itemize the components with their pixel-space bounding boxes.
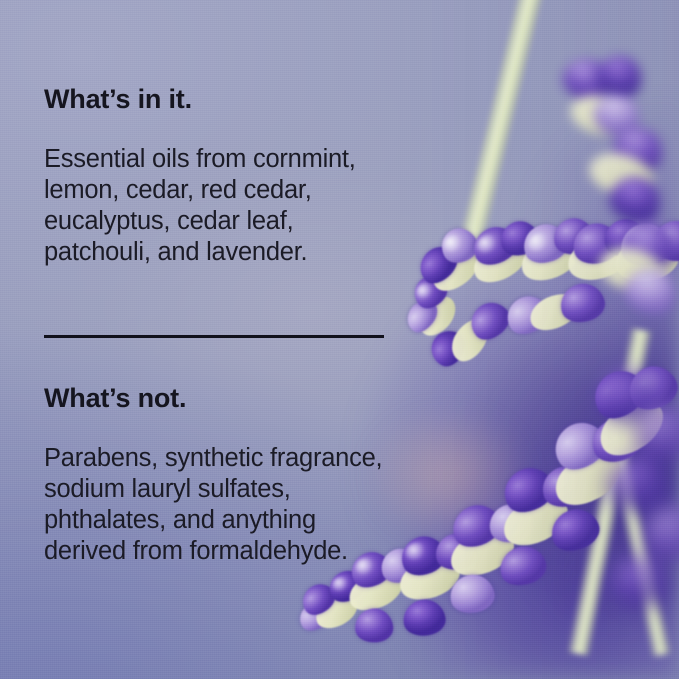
ingredients-included-line-1: Essential oils from cornmint, <box>44 144 474 175</box>
ingredients-excluded-line-3: phthalates, and anything <box>44 505 474 536</box>
ingredient-info-card: What’s in it. Essential oils from cornmi… <box>0 0 679 679</box>
ingredients-excluded-line-1: Parabens, synthetic fragrance, <box>44 443 474 474</box>
ingredients-excluded-list: Parabens, synthetic fragrance, sodium la… <box>44 443 474 567</box>
ingredients-included-line-4: patchouli, and lavender. <box>44 237 474 268</box>
heading-whats-not: What’s not. <box>44 383 186 413</box>
ingredients-excluded-line-2: sodium lauryl sulfates, <box>44 474 474 505</box>
ingredients-included-line-3: eucalyptus, cedar leaf, <box>44 206 474 237</box>
ingredients-included-line-2: lemon, cedar, red cedar, <box>44 175 474 206</box>
ingredients-excluded-line-4: derived from formaldehyde. <box>44 536 474 567</box>
card-text-content: What’s in it. Essential oils from cornmi… <box>44 0 514 679</box>
heading-whats-in-it: What’s in it. <box>44 84 192 114</box>
ingredients-included-list: Essential oils from cornmint, lemon, ced… <box>44 144 474 268</box>
lavender-cluster-far-right <box>600 360 679 620</box>
section-divider-rule <box>44 335 384 338</box>
